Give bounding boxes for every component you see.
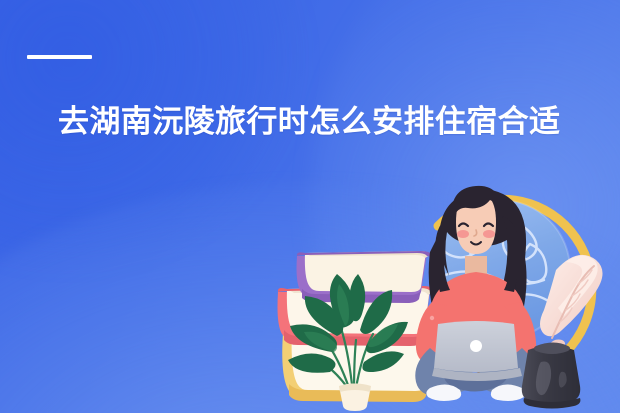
girl-cheek-left <box>457 230 469 238</box>
article-cover-banner: 去湖南沅陵旅行时怎么安排住宿合适 <box>0 0 620 413</box>
girl-cheek-right <box>483 230 495 238</box>
girl-group <box>415 186 536 401</box>
cover-illustration <box>0 0 620 413</box>
laptop-logo <box>470 340 482 352</box>
laptop-group <box>432 321 522 381</box>
